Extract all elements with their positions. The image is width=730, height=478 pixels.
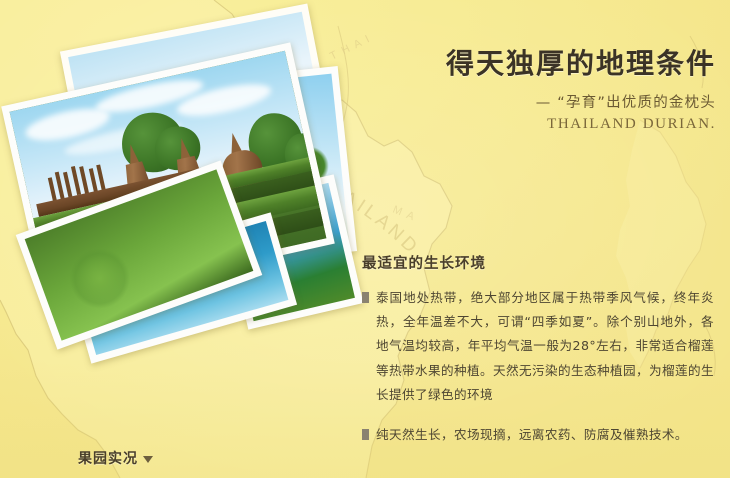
bullet-item: 纯天然生长，农场现摘，远离农药、防腐及催熟技术。 bbox=[362, 423, 714, 447]
bullet-text: 纯天然生长，农场现摘，远离农药、防腐及催熟技术。 bbox=[376, 423, 714, 447]
square-bullet-icon bbox=[362, 429, 369, 440]
headline-subtitle-en: THAILAND DURIAN. bbox=[330, 116, 716, 133]
page-title: 得天独厚的地理条件 bbox=[330, 48, 716, 80]
content-block: 最适宜的生长环境 泰国地处热带，绝大部分地区属于热带季风气候，终年炎热，全年温差… bbox=[362, 252, 714, 463]
headline-block: 得天独厚的地理条件 — “孕育”出优质的金枕头 THAILAND DURIAN. bbox=[330, 48, 716, 133]
orchard-status-toggle[interactable]: 果园实况 bbox=[78, 448, 153, 468]
promo-banner: THAILAND T H A I M A N A bbox=[0, 0, 730, 478]
bullet-item: 泰国地处热带，绝大部分地区属于热带季风气候，终年炎热，全年温差不大，可谓“四季如… bbox=[362, 286, 714, 407]
photo-collage[interactable] bbox=[18, 26, 338, 292]
square-bullet-icon bbox=[362, 292, 369, 303]
triangle-down-icon[interactable] bbox=[143, 456, 153, 463]
orchard-status-label: 果园实况 bbox=[78, 448, 138, 468]
headline-subtitle-cn: — “孕育”出优质的金枕头 bbox=[330, 93, 716, 113]
bullet-text: 泰国地处热带，绝大部分地区属于热带季风气候，终年炎热，全年温差不大，可谓“四季如… bbox=[376, 286, 714, 407]
section-subheading: 最适宜的生长环境 bbox=[362, 252, 714, 273]
